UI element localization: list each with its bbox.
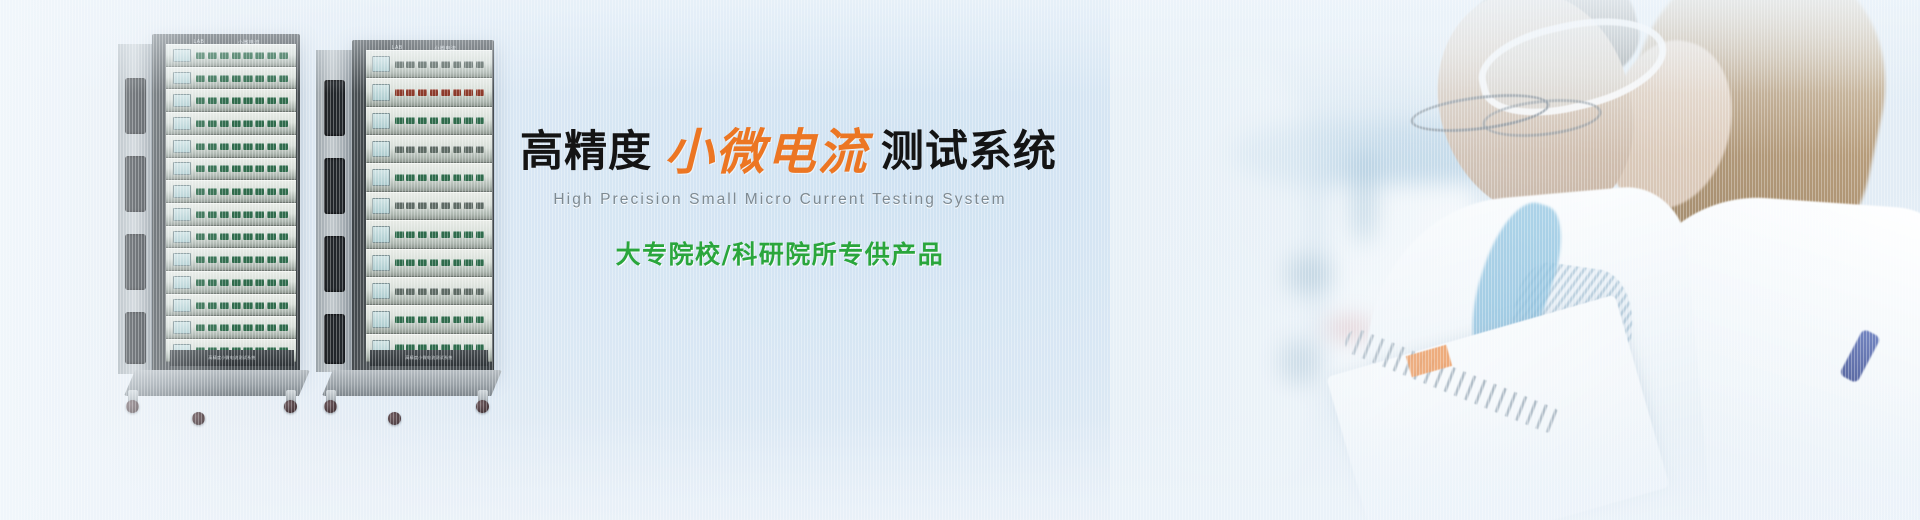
- rack-instrument-unit: [366, 305, 492, 333]
- rack-instrument-unit: [366, 220, 492, 248]
- instrument-display: [173, 231, 191, 244]
- rack-instrument-unit: [166, 89, 296, 112]
- instrument-display: [173, 49, 191, 62]
- rack-caster-wheel: [388, 412, 401, 425]
- instrument-display: [173, 321, 191, 334]
- instrument-terminal-row: [191, 211, 296, 218]
- rack-b-instrument-stack: [366, 50, 492, 362]
- instrument-display: [372, 56, 390, 72]
- rack-instrument-unit: [166, 248, 296, 271]
- banner-headline: 高精度 小微电流 测试系统: [520, 128, 1040, 177]
- headline-prefix: 高精度: [520, 127, 652, 177]
- instrument-display: [173, 208, 191, 221]
- rack-instrument-unit: [366, 163, 492, 191]
- instrument-display: [173, 72, 191, 85]
- instrument-rack-a: LAB 小微电流 高精度小微电流测试系统: [118, 18, 298, 418]
- instrument-display: [173, 276, 191, 289]
- rack-instrument-unit: [166, 271, 296, 294]
- instrument-display: [372, 226, 390, 242]
- rack-bottom-plate: 高精度小微电流测试系统: [370, 350, 488, 366]
- instrument-terminal-row: [390, 174, 492, 181]
- rack-base: [124, 370, 310, 396]
- instrument-terminal-row: [191, 97, 296, 104]
- instrument-terminal-row: [390, 146, 492, 153]
- instrument-terminal-row: [390, 117, 492, 124]
- instrument-terminal-row: [191, 165, 296, 172]
- instrument-terminal-row: [390, 89, 492, 96]
- laboratory-photo: [1110, 0, 1920, 520]
- instrument-terminal-row: [191, 52, 296, 59]
- headline-accent: 小微电流: [664, 123, 868, 181]
- instrument-terminal-row: [191, 324, 296, 331]
- instrument-terminal-row: [390, 202, 492, 209]
- instrument-terminal-row: [191, 188, 296, 195]
- banner-copy: 高精度 小微电流 测试系统 High Precision Small Micro…: [520, 128, 1040, 271]
- banner-subtitle-english: High Precision Small Micro Current Testi…: [520, 191, 1040, 209]
- instrument-terminal-row: [390, 259, 492, 266]
- instrument-display: [372, 141, 390, 157]
- rack-caster-wheel: [284, 400, 297, 413]
- rack-instrument-unit: [366, 192, 492, 220]
- rack-instrument-unit: [366, 249, 492, 277]
- rack-caster-wheel: [126, 400, 139, 413]
- rack-instrument-unit: [366, 107, 492, 135]
- instrument-terminal-row: [191, 256, 296, 263]
- instrument-display: [372, 169, 390, 185]
- rack-caster-wheel: [192, 412, 205, 425]
- instrument-terminal-row: [191, 75, 296, 82]
- rack-instrument-unit: [366, 50, 492, 78]
- instrument-terminal-row: [191, 143, 296, 150]
- rack-instrument-unit: [166, 112, 296, 135]
- rack-instrument-unit: [366, 135, 492, 163]
- instrument-display: [173, 94, 191, 107]
- rack-caster-wheel: [324, 400, 337, 413]
- rack-instrument-unit: [366, 277, 492, 305]
- instrument-display: [372, 255, 390, 271]
- instrument-display: [372, 198, 390, 214]
- rack-instrument-unit: [166, 135, 296, 158]
- instrument-display: [372, 311, 390, 327]
- rack-caster-wheel: [476, 400, 489, 413]
- instrument-terminal-row: [191, 233, 296, 240]
- instrument-rack-b: LAB 小微电流 高精度小微电流测试系统: [316, 26, 492, 418]
- photo-fade-overlay: [1110, 0, 1920, 520]
- instrument-terminal-row: [191, 279, 296, 286]
- instrument-terminal-row: [191, 302, 296, 309]
- rack-instrument-unit: [166, 203, 296, 226]
- rack-instrument-unit: [166, 67, 296, 90]
- instrument-terminal-row: [191, 120, 296, 127]
- rack-instrument-unit: [166, 44, 296, 67]
- instrument-display: [372, 113, 390, 129]
- rack-instrument-unit: [166, 180, 296, 203]
- rack-instrument-unit: [166, 294, 296, 317]
- rack-instrument-unit: [166, 226, 296, 249]
- rack-instrument-unit: [366, 78, 492, 106]
- instrument-terminal-row: [390, 316, 492, 323]
- banner-subtitle-chinese: 大专院校/科研院所专供产品: [520, 235, 1040, 271]
- instrument-display: [173, 253, 191, 266]
- instrument-display: [372, 283, 390, 299]
- instrument-terminal-row: [390, 231, 492, 238]
- rack-instrument-unit: [166, 158, 296, 181]
- instrument-terminal-row: [390, 61, 492, 68]
- instrument-display: [173, 185, 191, 198]
- rack-bottom-plate: 高精度小微电流测试系统: [170, 350, 294, 366]
- rack-base: [322, 370, 502, 396]
- rack-instrument-unit: [166, 316, 296, 339]
- instrument-display: [173, 140, 191, 153]
- headline-suffix: 测试系统: [881, 127, 1057, 177]
- instrument-display: [173, 117, 191, 130]
- product-banner: LAB 小微电流 高精度小微电流测试系统 LAB 小微电流 高精度小微电流测试系…: [0, 0, 1920, 520]
- instrument-terminal-row: [390, 288, 492, 295]
- rack-a-instrument-stack: [166, 44, 296, 362]
- instrument-display: [173, 162, 191, 175]
- instrument-display: [372, 84, 390, 100]
- instrument-display: [173, 299, 191, 312]
